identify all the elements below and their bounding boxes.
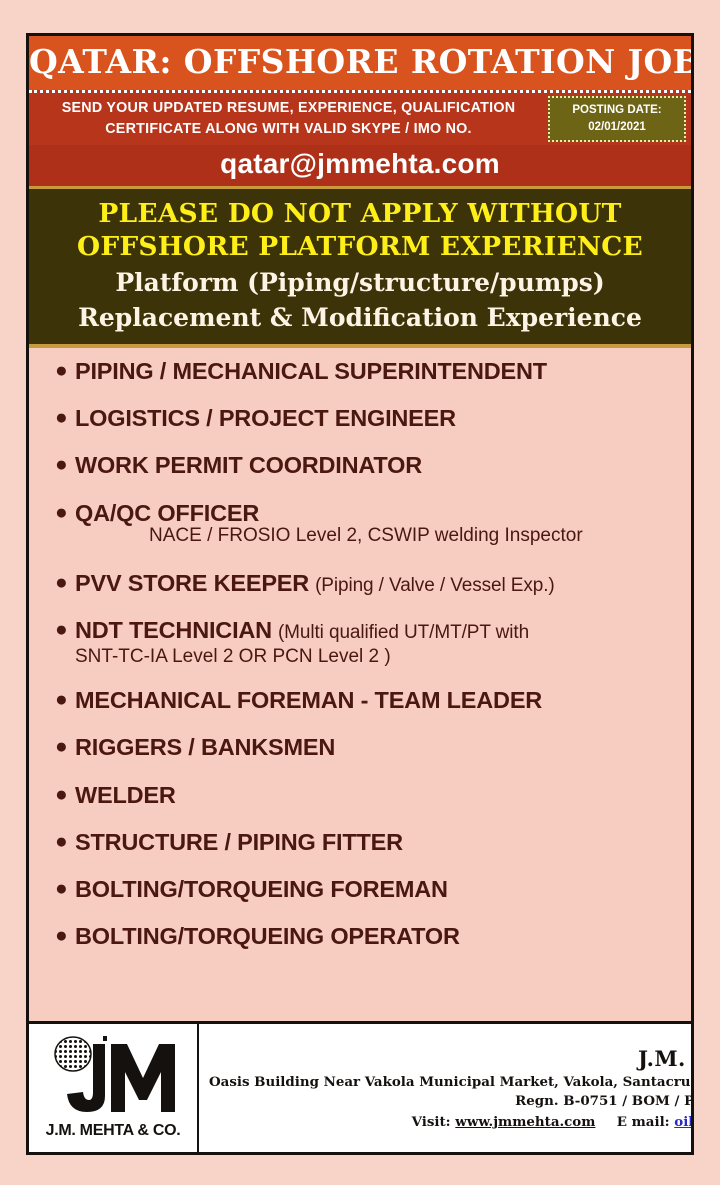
bullet-icon: ●	[55, 925, 75, 946]
bullet-icon: ●	[55, 572, 75, 593]
company-name: J.M. MEHTA & CO.	[209, 1046, 691, 1071]
company-address: Oasis Building Near Vakola Municipal Mar…	[209, 1073, 691, 1092]
company-registration: Regn. B-0751 / BOM / PART/ 1000+/ 5 /643…	[209, 1092, 691, 1111]
job-qualification-note: (Piping / Valve / Vessel Exp.)	[315, 575, 555, 597]
job-title: WELDER	[75, 782, 176, 809]
bullet-icon: ●	[55, 736, 75, 757]
posting-date-box: POSTING DATE: 02/01/2021	[548, 96, 686, 142]
list-item: ● NDT TECHNICIAN (Multi qualified UT/MT/…	[29, 617, 691, 644]
email-label: E mail:	[617, 1114, 670, 1130]
job-vacancy-list: ● PIPING / MECHANICAL SUPERINTENDENT ● L…	[29, 348, 691, 1021]
list-item: ● PIPING / MECHANICAL SUPERINTENDENT	[29, 358, 691, 385]
warning-subtitle-1: Platform (Piping/structure/pumps)	[39, 267, 681, 300]
posting-date-label: POSTING DATE:	[572, 102, 661, 119]
job-title: MECHANICAL FOREMAN - TEAM LEADER	[75, 687, 542, 714]
list-item: ● MECHANICAL FOREMAN - TEAM LEADER	[29, 687, 691, 714]
job-title: PVV STORE KEEPER	[75, 570, 309, 597]
job-title: QA/QC OFFICER	[75, 500, 259, 527]
bullet-icon: ●	[55, 619, 75, 640]
title-band: QATAR: OFFSHORE ROTATION JOB	[29, 36, 691, 90]
contact-email[interactable]: qatar@jmmehta.com	[29, 148, 691, 180]
list-item: ● BOLTING/TORQUEING OPERATOR	[29, 923, 691, 950]
logo-caption: J.M. MEHTA & CO.	[46, 1122, 181, 1140]
contact-email-band: qatar@jmmehta.com	[29, 145, 691, 189]
bullet-icon: ●	[55, 831, 75, 852]
list-item: ● BOLTING/TORQUEING FOREMAN	[29, 876, 691, 903]
warning-line-1: PLEASE DO NOT APPLY WITHOUT	[39, 197, 681, 231]
job-title: PIPING / MECHANICAL SUPERINTENDENT	[75, 358, 547, 385]
bullet-icon: ●	[55, 878, 75, 899]
bullet-icon: ●	[55, 360, 75, 381]
bullet-icon: ●	[55, 689, 75, 710]
instruction-text: SEND YOUR UPDATED RESUME, EXPERIENCE, QU…	[29, 93, 548, 145]
job-advert-poster: QATAR: OFFSHORE ROTATION JOB SEND YOUR U…	[26, 33, 694, 1155]
job-title: BOLTING/TORQUEING OPERATOR	[75, 923, 460, 950]
experience-warning-block: PLEASE DO NOT APPLY WITHOUT OFFSHORE PLA…	[29, 189, 691, 348]
bullet-icon: ●	[55, 407, 75, 428]
posting-date-value: 02/01/2021	[588, 119, 646, 136]
instruction-line-2: CERTIFICATE ALONG WITH VALID SKYPE / IMO…	[35, 119, 542, 140]
job-title: STRUCTURE / PIPING FITTER	[75, 829, 403, 856]
list-item: ● WELDER	[29, 782, 691, 809]
jm-monogram-logo-icon	[43, 1034, 183, 1120]
job-qualification-note-continued: SNT-TC-IA Level 2 OR PCN Level 2 )	[29, 646, 691, 669]
job-title: LOGISTICS / PROJECT ENGINEER	[75, 405, 456, 432]
company-info: J.M. MEHTA & CO. Oasis Building Near Vak…	[199, 1024, 691, 1152]
warning-subtitle-2: Replacement & Modification Experience	[39, 302, 681, 335]
bullet-icon: ●	[55, 454, 75, 475]
list-item: ● STRUCTURE / PIPING FITTER	[29, 829, 691, 856]
company-logo-cell: J.M. MEHTA & CO.	[29, 1024, 199, 1152]
job-title: BOLTING/TORQUEING FOREMAN	[75, 876, 448, 903]
list-item: ● WORK PERMIT COORDINATOR	[29, 452, 691, 479]
job-qualification-note: NACE / FROSIO Level 2, CSWIP welding Ins…	[29, 525, 691, 548]
page-title: QATAR: OFFSHORE ROTATION JOB	[29, 45, 691, 80]
list-item: ● PVV STORE KEEPER (Piping / Valve / Ves…	[29, 570, 691, 597]
company-contact-line: Visit: www.jmmehta.com E mail: oilandgas…	[209, 1112, 691, 1132]
job-title: RIGGERS / BANKSMEN	[75, 734, 335, 761]
visit-label: Visit:	[412, 1114, 451, 1130]
list-item: ● LOGISTICS / PROJECT ENGINEER	[29, 405, 691, 432]
list-item: ● RIGGERS / BANKSMEN	[29, 734, 691, 761]
company-footer: J.M. MEHTA & CO. J.M. MEHTA & CO. Oasis …	[29, 1021, 691, 1152]
warning-line-2: OFFSHORE PLATFORM EXPERIENCE	[39, 230, 681, 264]
job-title: WORK PERMIT COORDINATOR	[75, 452, 422, 479]
instruction-band: SEND YOUR UPDATED RESUME, EXPERIENCE, QU…	[29, 90, 691, 145]
bullet-icon: ●	[55, 784, 75, 805]
bullet-icon: ●	[55, 502, 75, 523]
instruction-line-1: SEND YOUR UPDATED RESUME, EXPERIENCE, QU…	[35, 98, 542, 119]
job-qualification-note: (Multi qualified UT/MT/PT with	[278, 622, 529, 644]
job-title: NDT TECHNICIAN	[75, 617, 272, 644]
company-website-link[interactable]: www.jmmehta.com	[455, 1114, 595, 1130]
list-item: ● QA/QC OFFICER	[29, 500, 691, 527]
company-email-link[interactable]: oilandgas@jmmehta.com	[674, 1114, 691, 1130]
